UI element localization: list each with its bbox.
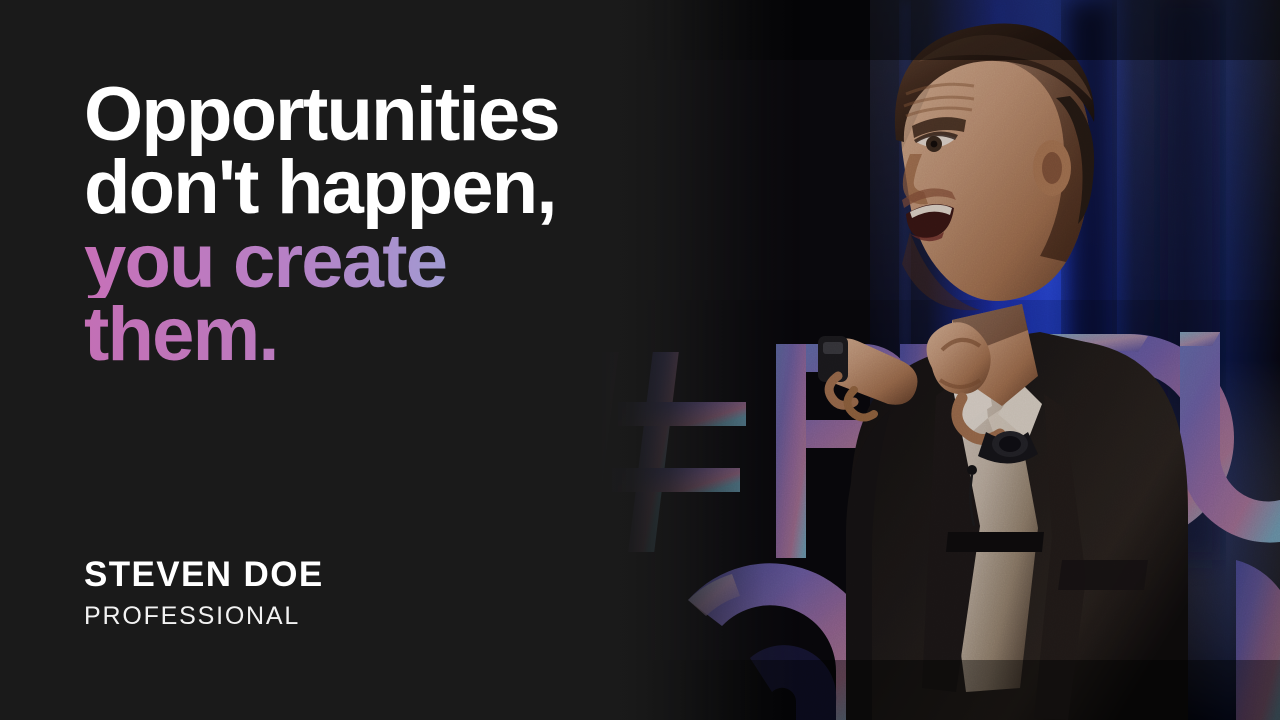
headline: Opportunities don't happen, you create t… — [84, 78, 784, 371]
headline-line-2: don't happen, — [84, 151, 784, 224]
speaker-credit: STEVEN DOE PROFESSIONAL — [84, 556, 724, 630]
speaker-name: STEVEN DOE — [84, 556, 724, 594]
speaker-role: PROFESSIONAL — [84, 603, 724, 631]
text-panel: Opportunities don't happen, you create t… — [0, 0, 780, 720]
headline-line-3: you create — [84, 225, 784, 298]
headline-line-1: Opportunities — [84, 78, 784, 151]
quote-slide: Opportunities don't happen, you create t… — [0, 0, 1280, 720]
headline-line-4: them. — [84, 298, 784, 371]
